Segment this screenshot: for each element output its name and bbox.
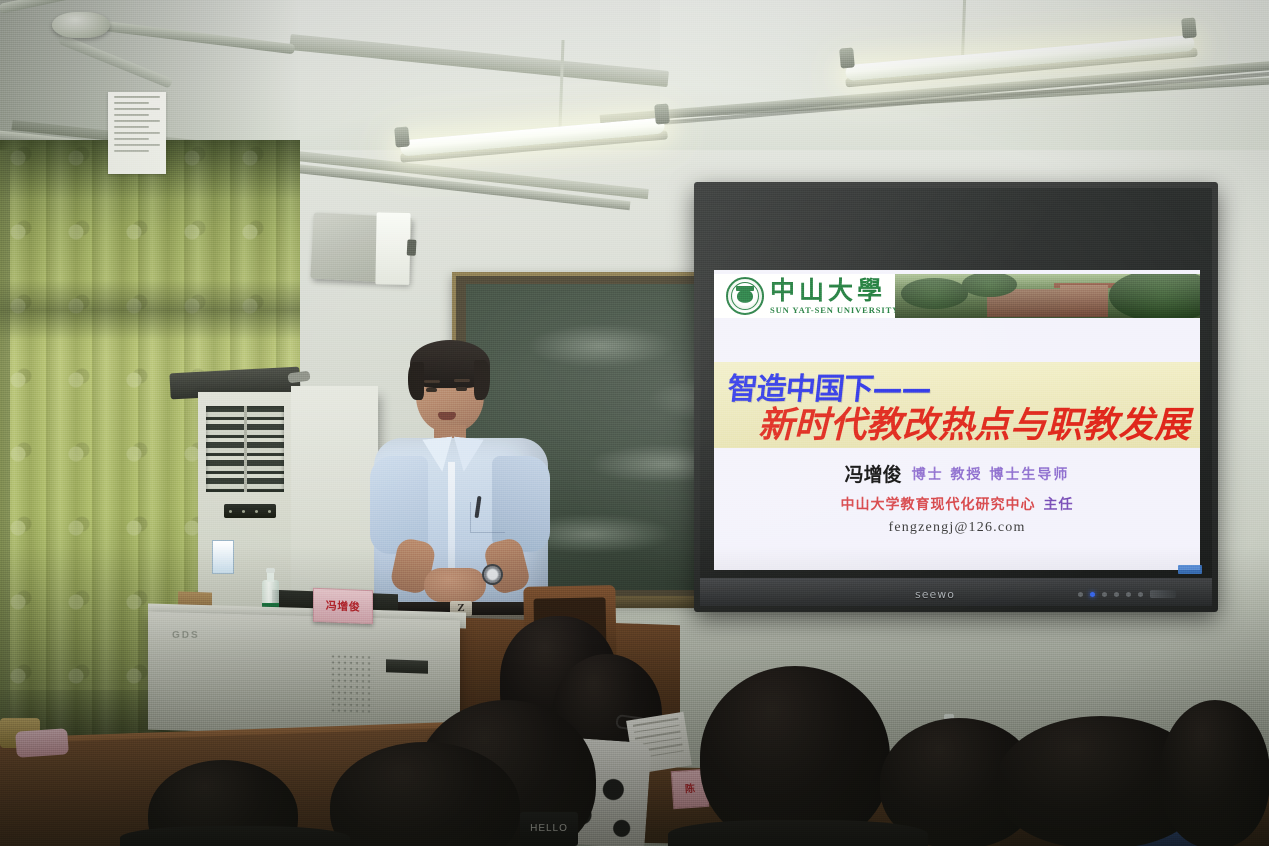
presentation-screen[interactable]: 中山大學 SUN YAT-SEN UNIVERSITY 智造中国下—— 新时代	[714, 270, 1200, 570]
presenter-mouth	[438, 412, 456, 420]
university-name-cn: 中山大學	[770, 278, 899, 303]
speaker-bracket	[407, 239, 417, 255]
presenter-eyebrow	[424, 380, 440, 383]
cooler-louver-divider	[244, 406, 247, 492]
presenter-info: 冯增俊博士 教授 博士生导师 中山大学教育现代化研究中心主任 fengzengj…	[714, 460, 1200, 536]
instruction-sheet	[108, 92, 166, 174]
speaker-face-panel	[375, 212, 410, 285]
presenter-hair-side	[474, 360, 490, 400]
presenter-titles: 博士 教授 博士生导师	[912, 464, 1070, 484]
campus-photo-banner	[895, 274, 1200, 318]
presenter-sleeve-left	[370, 456, 428, 554]
tube-end-cap	[654, 103, 670, 124]
presenter-email: fengzengj@126.com	[714, 520, 1200, 536]
tube-end-cap	[1181, 17, 1197, 38]
scene-bottom-shadow	[0, 546, 1269, 846]
slide-title-secondary: 新时代教改热点与职教发展	[758, 396, 1190, 448]
presenter-hair-side	[408, 362, 424, 400]
cooler-control-panel[interactable]	[224, 504, 276, 518]
presenter-eye	[456, 387, 467, 391]
university-logo: 中山大學 SUN YAT-SEN UNIVERSITY	[714, 277, 899, 315]
university-seal-icon	[726, 277, 764, 315]
slide-content: 中山大學 SUN YAT-SEN UNIVERSITY 智造中国下—— 新时代	[714, 270, 1200, 570]
presenter-role: 主任	[1044, 497, 1074, 513]
wall-speaker	[310, 212, 411, 283]
presenter-eye	[426, 388, 437, 392]
classroom-photo: 中山大學 SUN YAT-SEN UNIVERSITY 智造中国下—— 新时代	[0, 0, 1269, 846]
fan-hub	[52, 12, 110, 38]
curtain-shadow-band	[0, 280, 300, 340]
slide-header: 中山大學 SUN YAT-SEN UNIVERSITY	[714, 274, 1200, 318]
university-name-en: SUN YAT-SEN UNIVERSITY	[770, 306, 899, 315]
presenter-affiliation: 中山大学教育现代化研究中心	[841, 497, 1036, 513]
presenter-name: 冯增俊	[845, 460, 902, 487]
tube-end-cap	[394, 126, 410, 147]
tube-end-cap	[839, 47, 855, 68]
presenter-eyebrow	[454, 379, 470, 382]
